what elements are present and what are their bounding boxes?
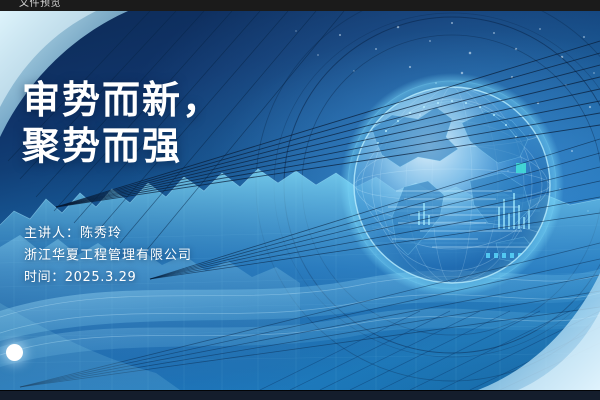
slide-preview-window: 文件预览 — [0, 0, 600, 400]
slide-title: 审势而新， 聚势而强 — [22, 77, 222, 169]
window-title: 文件预览 — [19, 0, 61, 9]
cyan-arc-bottom-left — [0, 303, 180, 390]
slide-meta: 主讲人：陈秀玲 浙江华夏工程管理有限公司 时间：2025.3.29 — [24, 223, 192, 289]
title-line-2: 聚势而强 — [22, 123, 222, 169]
meta-speaker: 主讲人：陈秀玲 — [24, 223, 192, 245]
glow-dot — [6, 344, 23, 361]
meta-date: 时间：2025.3.29 — [24, 267, 192, 289]
cyan-arc-decorations — [0, 11, 600, 390]
window-chrome-bar: 文件预览 — [0, 0, 600, 11]
title-line-1: 审势而新， — [22, 77, 222, 123]
meta-company: 浙江华夏工程管理有限公司 — [24, 245, 192, 267]
window-bottom-bar — [0, 390, 600, 400]
slide-canvas: 审势而新， 聚势而强 主讲人：陈秀玲 浙江华夏工程管理有限公司 时间：2025.… — [0, 11, 600, 390]
